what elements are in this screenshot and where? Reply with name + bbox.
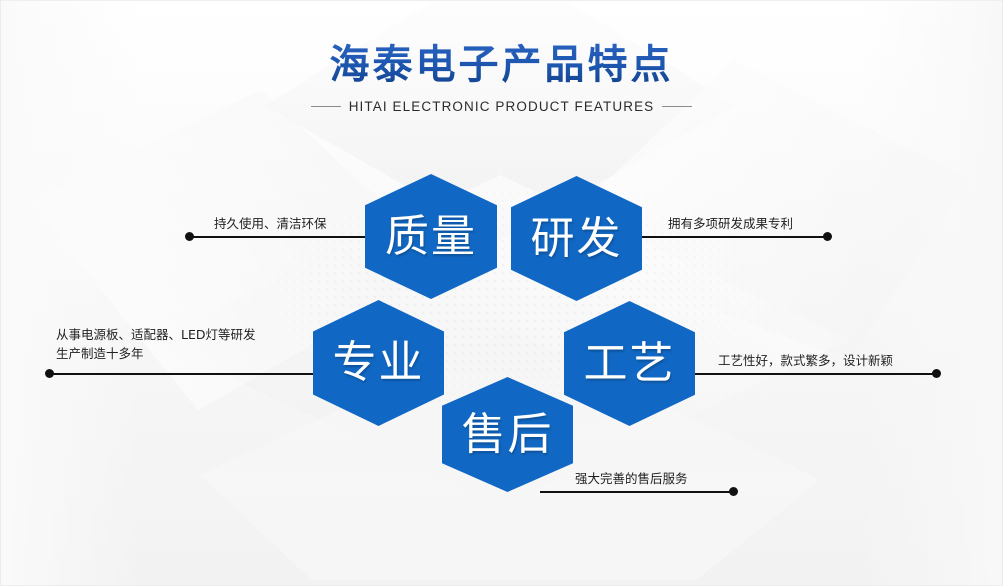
subtitle-rule-left xyxy=(311,106,341,107)
connector-line-quality xyxy=(192,236,382,238)
subtitle-rule-right xyxy=(662,106,692,107)
page-subtitle: HITAI ELECTRONIC PRODUCT FEATURES xyxy=(349,99,655,114)
connector-dot-rnd xyxy=(823,232,832,241)
connector-line-craft xyxy=(690,373,940,375)
connector-line-rnd xyxy=(640,236,830,238)
page-title: 海泰电子产品特点 xyxy=(0,40,1003,90)
caption-quality: 持久使用、清洁环保 xyxy=(214,214,327,233)
canvas-edge-top xyxy=(0,0,1003,1)
hexagon-label-professional: 专业 xyxy=(333,341,425,385)
connector-dot-quality xyxy=(185,232,194,241)
connector-line-after-sales xyxy=(540,491,736,493)
caption-professional: 从事电源板、适配器、LED灯等研发 生产制造十多年 xyxy=(56,325,256,364)
connector-dot-after-sales xyxy=(729,487,738,496)
caption-professional-line-1: 从事电源板、适配器、LED灯等研发 xyxy=(56,325,256,344)
hexagon-label-quality: 质量 xyxy=(385,215,477,259)
hexagon-label-after-sales: 售后 xyxy=(462,413,554,457)
caption-craft: 工艺性好，款式繁多，设计新颖 xyxy=(718,351,893,370)
subtitle-row: HITAI ELECTRONIC PRODUCT FEATURES xyxy=(0,99,1003,114)
connector-dot-craft xyxy=(932,369,941,378)
feature-infographic: 海泰电子产品特点 HITAI ELECTRONIC PRODUCT FEATUR… xyxy=(0,0,1003,586)
header: 海泰电子产品特点 HITAI ELECTRONIC PRODUCT FEATUR… xyxy=(0,40,1003,114)
hexagon-label-craft: 工艺 xyxy=(584,342,676,386)
caption-rnd: 拥有多项研发成果专利 xyxy=(668,214,793,233)
hexagon-label-rnd: 研发 xyxy=(531,217,623,261)
caption-after-sales: 强大完善的售后服务 xyxy=(575,469,688,488)
connector-dot-professional xyxy=(45,369,54,378)
caption-professional-line-2: 生产制造十多年 xyxy=(56,344,256,363)
connector-line-professional xyxy=(52,373,324,375)
